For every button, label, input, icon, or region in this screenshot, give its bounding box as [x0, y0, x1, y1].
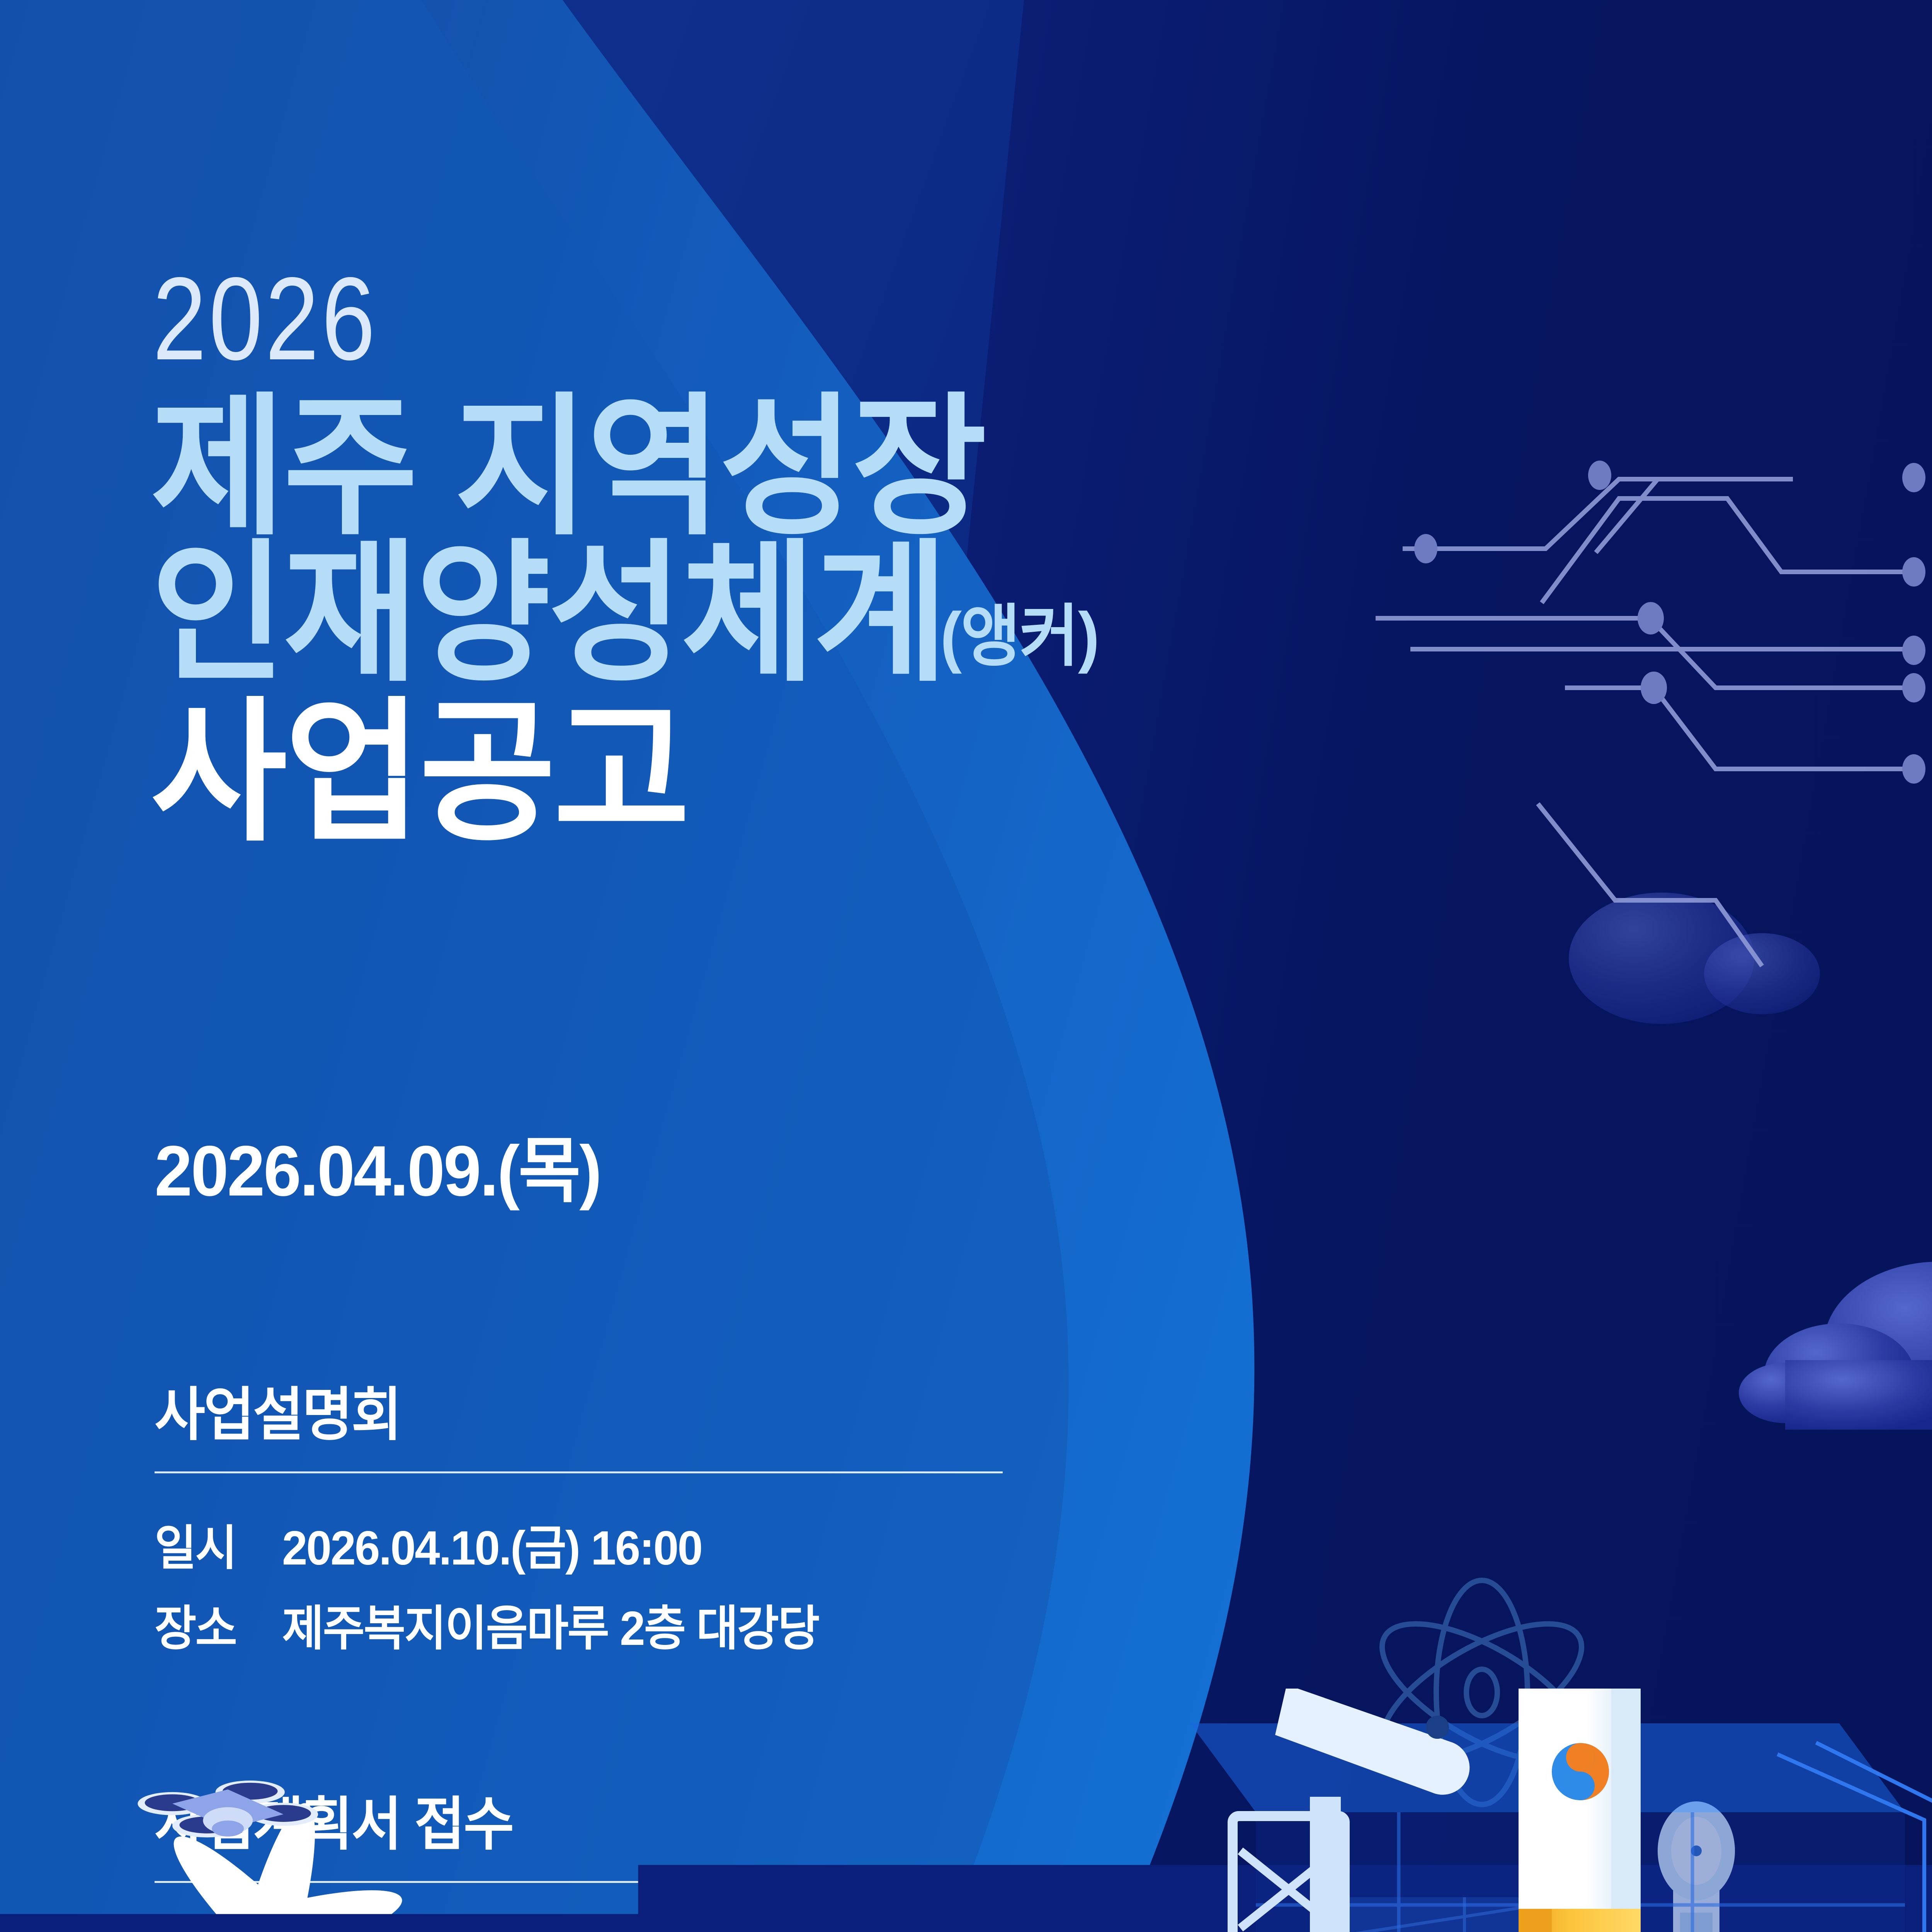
- headline-line-2: 인재양성체계(앵커): [151, 541, 1099, 687]
- section-briefing-title: 사업설명회: [155, 1383, 969, 1446]
- row-value: 제주복지이음마루 2층 대강당: [282, 1589, 819, 1659]
- row-value: 2026.04.10.(금) 16:00: [282, 1509, 702, 1578]
- section-briefing-row: 장소 제주복지이음마루 2층 대강당: [155, 1589, 1012, 1659]
- poster-root: 2026 제주 지역성장 인재양성체계(앵커) 사업공고 2026.04.09.…: [0, 0, 1932, 1932]
- row-label: 장소: [155, 1589, 276, 1659]
- headline-line-3: 사업공고: [151, 699, 1099, 847]
- hallasan-mountains: [0, 1920, 1229, 1932]
- headline-anchor-note: (앵커): [940, 599, 1099, 674]
- headline-line-1: 제주 지역성장: [151, 394, 1099, 541]
- section-briefing: 사업설명회 일시 2026.04.10.(금) 16:00 장소 제주복지이음마…: [155, 1383, 1012, 1670]
- announcement-date: 2026.04.09.(목): [155, 1113, 600, 1216]
- circuit-pattern-icon: [1376, 461, 1925, 966]
- year-label: 2026: [153, 260, 378, 378]
- headline-line-2-main: 인재양성체계: [151, 528, 946, 699]
- headline: 제주 지역성장 인재양성체계(앵커) 사업공고: [151, 394, 1138, 847]
- row-label: 일시: [155, 1509, 276, 1578]
- cloud-icon: [1739, 1262, 1932, 1430]
- taegeuk-emblem: [1552, 1743, 1609, 1800]
- section-briefing-row: 일시 2026.04.10.(금) 16:00: [155, 1509, 1012, 1578]
- illustration: [0, 1689, 1932, 1932]
- section-briefing-divider: [155, 1471, 1003, 1473]
- cloud-icon: [1569, 893, 1820, 1024]
